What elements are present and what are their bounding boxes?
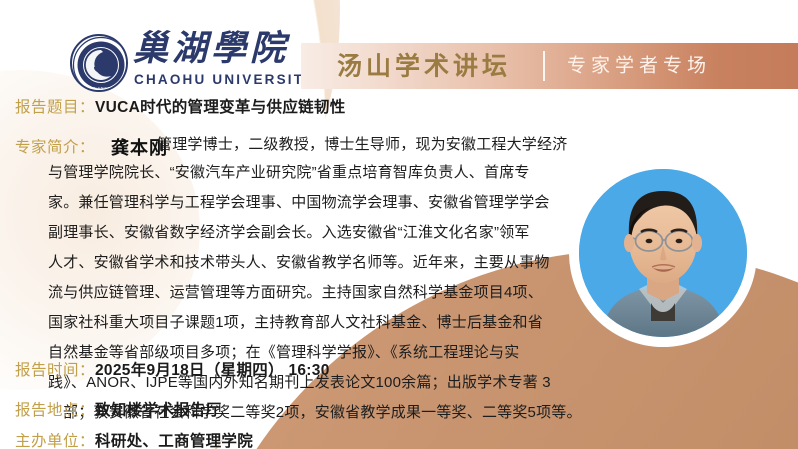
speaker-portrait	[574, 164, 752, 342]
bio-line: 副理事长、安徽省数字经济学会副会长。入选安徽省“江淮文化名家”领军	[48, 225, 530, 240]
report-title-value: VUCA时代的管理变革与供应链韧性	[95, 99, 346, 116]
report-place-value: 致知楼学术报告厅	[95, 402, 221, 419]
report-title-label: 报告题目：	[15, 99, 95, 116]
banner-main-title: 汤山学术讲坛	[337, 54, 511, 79]
bio-line: 家。兼任管理科学与工程学会理事、中国物流学会理事、安徽省管理学学会	[48, 195, 550, 210]
report-host-label: 主办单位：	[15, 433, 95, 449]
report-time-row: 报告时间：2025年9月18日（星期四） 16:30	[15, 358, 330, 380]
speaker-portrait-photo	[579, 169, 747, 337]
poster-header: 巢 湖 學 院 CHAOHU UNIVERSITY 巢湖學院 CHAOHU UN…	[0, 0, 798, 100]
bio-line: 人才、安徽省学术和技术带头人、安徽省教学名师等。近年来，主要从事物	[48, 255, 550, 270]
university-name-cn: 巢湖學院	[133, 31, 289, 66]
report-time-value: 2025年9月18日（星期四） 16:30	[95, 362, 330, 379]
banner-subtitle: 专家学者专场	[567, 57, 711, 76]
report-place-row: 报告地点：致知楼学术报告厅	[15, 398, 221, 420]
report-host-row: 主办单位：科研处、工商管理学院	[15, 429, 253, 449]
report-place-label: 报告地点：	[15, 402, 95, 419]
bio-line: 管理学博士，二级教授，博士生导师，现为安徽工程大学经济	[157, 137, 567, 152]
bio-line: 国家社科重大项目子课题1项，主持教育部人文社科基金、博士后基金和省	[48, 315, 543, 330]
bio-line: 与管理学院院长、“安徽汽车产业研究院”省重点培育智库负责人、首席专	[48, 165, 530, 180]
report-host-value: 科研处、工商管理学院	[95, 433, 253, 449]
report-title-row: 报告题目：VUCA时代的管理变革与供应链韧性	[15, 95, 346, 117]
svg-text:巢 湖 學 院: 巢 湖 學 院	[92, 43, 109, 48]
bio-line: 流与供应链管理、运营管理等方面研究。主持国家自然科学基金项目4项、	[48, 285, 543, 300]
university-name-en: CHAOHU UNIVERSITY	[134, 73, 315, 87]
speaker-intro-label: 专家简介：	[15, 135, 95, 157]
report-time-label: 报告时间：	[15, 362, 95, 379]
svg-text:CHAOHU UNIVERSITY: CHAOHU UNIVERSITY	[81, 86, 122, 90]
poster-canvas: 巢 湖 學 院 CHAOHU UNIVERSITY 巢湖學院 CHAOHU UN…	[0, 0, 798, 449]
lecture-series-banner: 汤山学术讲坛 专家学者专场	[301, 43, 798, 89]
chaohu-university-seal-icon: 巢 湖 學 院 CHAOHU UNIVERSITY	[70, 34, 128, 92]
banner-divider	[543, 51, 545, 81]
